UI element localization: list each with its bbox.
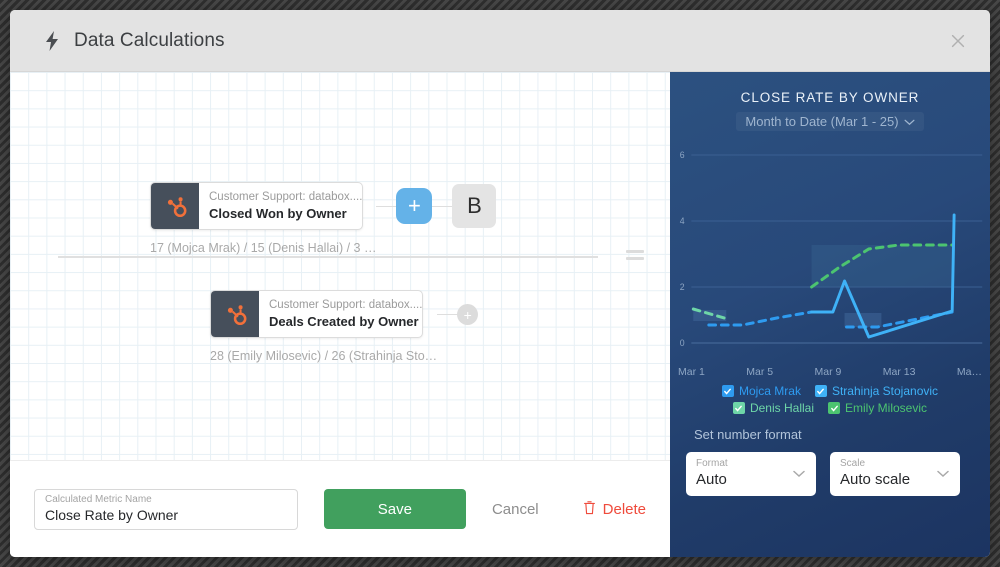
legend-label: Emily Milosevic bbox=[845, 401, 927, 415]
svg-text:4: 4 bbox=[680, 216, 685, 226]
cancel-button[interactable]: Cancel bbox=[492, 501, 539, 518]
add-operand-button[interactable]: + bbox=[457, 304, 478, 325]
checkbox-checked-icon[interactable] bbox=[828, 402, 840, 414]
metric-name-a: Closed Won by Owner bbox=[209, 205, 354, 222]
line-chart: 6 4 2 0 bbox=[670, 137, 990, 372]
metric-name-b: Deals Created by Owner bbox=[269, 313, 414, 330]
format-controls: Format Auto Scale Auto scale bbox=[686, 452, 990, 496]
chart-preview-pane: CLOSE RATE BY OWNER Month to Date (Mar 1… bbox=[670, 72, 990, 557]
connector-line bbox=[432, 206, 452, 207]
drag-handle-icon[interactable] bbox=[626, 250, 644, 260]
chart-legend: Mojca Mrak Strahinja Stojanovic bbox=[670, 384, 990, 415]
calculated-metric-name-value: Close Rate by Owner bbox=[45, 506, 287, 525]
format-label: Format bbox=[696, 458, 806, 470]
close-icon[interactable] bbox=[946, 29, 970, 53]
scale-select[interactable]: Scale Auto scale bbox=[830, 452, 960, 496]
trash-icon bbox=[583, 500, 596, 519]
save-button[interactable]: Save bbox=[324, 489, 466, 529]
metric-values-a: 17 (Mojca Mrak) / 15 (Denis Hallai) / 3 … bbox=[150, 241, 376, 255]
hubspot-icon bbox=[211, 291, 259, 337]
legend-label: Strahinja Stojanovic bbox=[832, 384, 938, 398]
checkbox-checked-icon[interactable] bbox=[815, 385, 827, 397]
checkbox-checked-icon[interactable] bbox=[733, 402, 745, 414]
scale-label: Scale bbox=[840, 458, 950, 470]
chevron-down-icon bbox=[904, 114, 915, 129]
metric-block-b[interactable]: Customer Support: databox.... Deals Crea… bbox=[210, 290, 437, 363]
data-calculations-modal: Data Calculations bbox=[10, 10, 990, 557]
formula-row-a: Customer Support: databox.... Closed Won… bbox=[150, 182, 496, 255]
formula-divider bbox=[58, 256, 598, 258]
connector-line bbox=[437, 314, 457, 315]
chevron-down-icon bbox=[793, 465, 805, 483]
metric-source-b: Customer Support: databox.... bbox=[269, 298, 414, 313]
legend-label: Denis Hallai bbox=[750, 401, 814, 415]
formula-builder-pane: Customer Support: databox.... Closed Won… bbox=[10, 72, 670, 557]
calculated-metric-name-label: Calculated Metric Name bbox=[45, 493, 287, 506]
scale-value: Auto scale bbox=[840, 470, 950, 490]
svg-text:6: 6 bbox=[680, 150, 685, 160]
legend-item-mojca-mrak[interactable]: Mojca Mrak bbox=[722, 384, 801, 398]
metric-block-a[interactable]: Customer Support: databox.... Closed Won… bbox=[150, 182, 376, 255]
date-range-label: Month to Date (Mar 1 - 25) bbox=[745, 114, 898, 129]
connector-line bbox=[376, 206, 396, 207]
legend-item-denis-hallai[interactable]: Denis Hallai bbox=[733, 401, 814, 415]
chart-canvas: 6 4 2 0 bbox=[670, 137, 990, 372]
format-select[interactable]: Format Auto bbox=[686, 452, 816, 496]
operand-slot-b[interactable]: B bbox=[452, 184, 496, 228]
legend-item-emily-milosevic[interactable]: Emily Milosevic bbox=[828, 401, 927, 415]
formula-row-b: Customer Support: databox.... Deals Crea… bbox=[210, 290, 478, 363]
metric-values-b: 28 (Emily Milosevic) / 26 (Strahinja Sto… bbox=[210, 349, 437, 363]
modal-footer: Calculated Metric Name Close Rate by Own… bbox=[10, 460, 670, 557]
modal-header: Data Calculations bbox=[10, 10, 990, 72]
modal-body: Customer Support: databox.... Closed Won… bbox=[10, 72, 990, 557]
svg-text:0: 0 bbox=[680, 338, 685, 348]
calculated-metric-name-input[interactable]: Calculated Metric Name Close Rate by Own… bbox=[34, 489, 298, 530]
y-axis-ticks: 6 4 2 0 bbox=[680, 150, 685, 348]
date-range-selector[interactable]: Month to Date (Mar 1 - 25) bbox=[736, 112, 923, 131]
delete-label: Delete bbox=[603, 501, 646, 518]
delete-button[interactable]: Delete bbox=[583, 500, 646, 519]
chevron-down-icon bbox=[937, 465, 949, 483]
hubspot-icon bbox=[151, 183, 199, 229]
operator-plus-button[interactable]: + bbox=[396, 188, 432, 224]
set-number-format-link[interactable]: Set number format bbox=[694, 427, 990, 442]
svg-text:2: 2 bbox=[680, 282, 685, 292]
chart-title: CLOSE RATE BY OWNER bbox=[670, 90, 990, 105]
chart-highlight-bands bbox=[693, 245, 952, 327]
page-title: Data Calculations bbox=[74, 30, 225, 52]
formula-canvas[interactable]: Customer Support: databox.... Closed Won… bbox=[10, 72, 670, 460]
legend-item-strahinja-stojanovic[interactable]: Strahinja Stojanovic bbox=[815, 384, 938, 398]
lightning-bolt-icon bbox=[44, 31, 60, 51]
format-value: Auto bbox=[696, 470, 806, 490]
legend-label: Mojca Mrak bbox=[739, 384, 801, 398]
metric-source-a: Customer Support: databox.... bbox=[209, 190, 354, 205]
checkbox-checked-icon[interactable] bbox=[722, 385, 734, 397]
